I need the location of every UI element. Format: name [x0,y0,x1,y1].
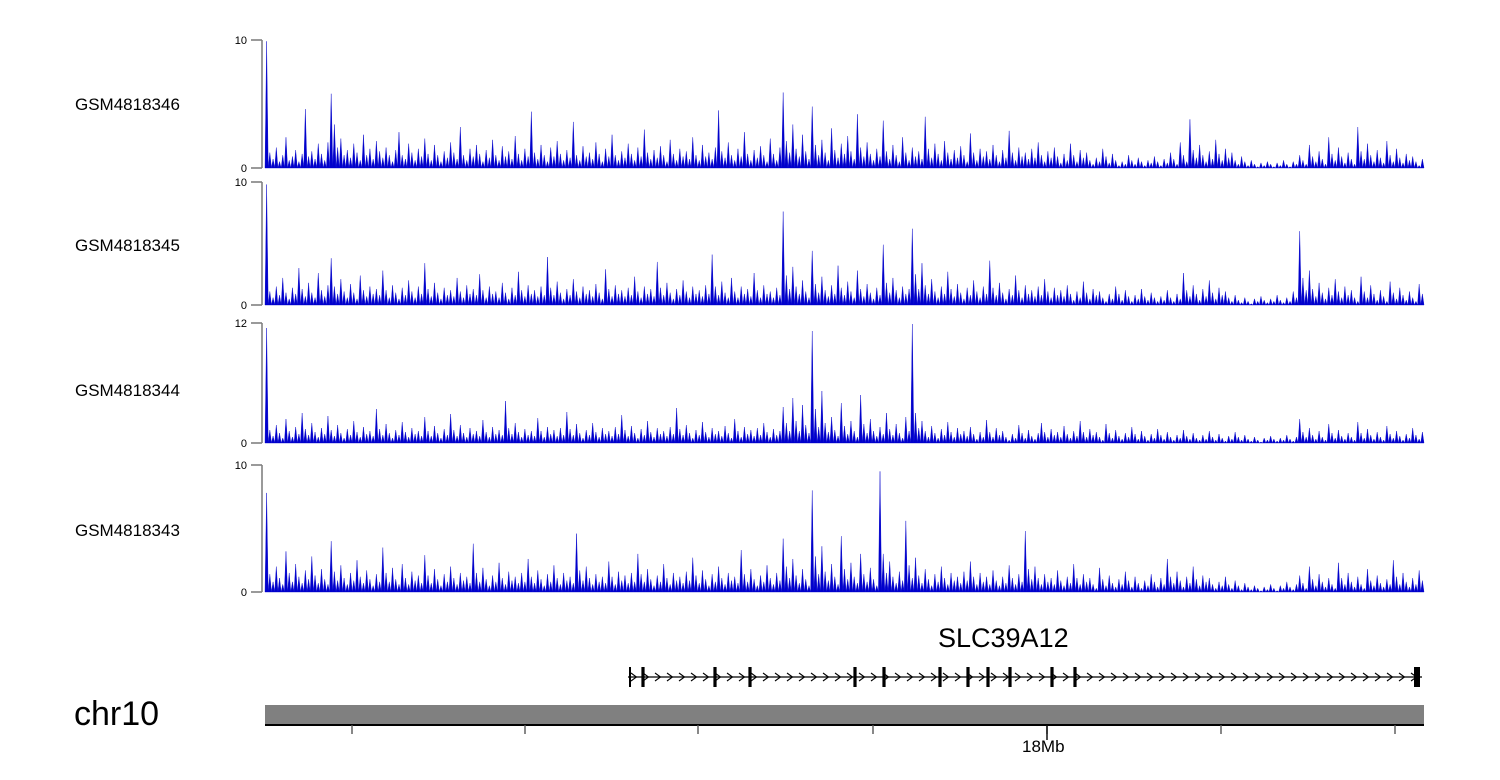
genome-ruler[interactable] [0,700,1500,740]
coverage-track-gsm4818346[interactable]: GSM4818346 100 [0,0,1500,175]
coverage-track-gsm4818344[interactable]: GSM4818344 120 [0,315,1500,458]
signal-area-gsm4818346 [0,0,1500,175]
signal-area-gsm4818343 [0,458,1500,603]
genome-browser-view: GSM4818346 100 GSM4818345 100 GSM4818344… [0,0,1500,780]
gene-model[interactable] [0,655,1500,700]
signal-area-gsm4818344 [0,315,1500,458]
coverage-track-gsm4818343[interactable]: GSM4818343 100 [0,458,1500,603]
signal-area-gsm4818345 [0,175,1500,315]
gene-name-label: SLC39A12 [938,625,1069,652]
ruler-tick-label-18mb: 18Mb [1022,738,1065,755]
coverage-track-gsm4818345[interactable]: GSM4818345 100 [0,175,1500,315]
